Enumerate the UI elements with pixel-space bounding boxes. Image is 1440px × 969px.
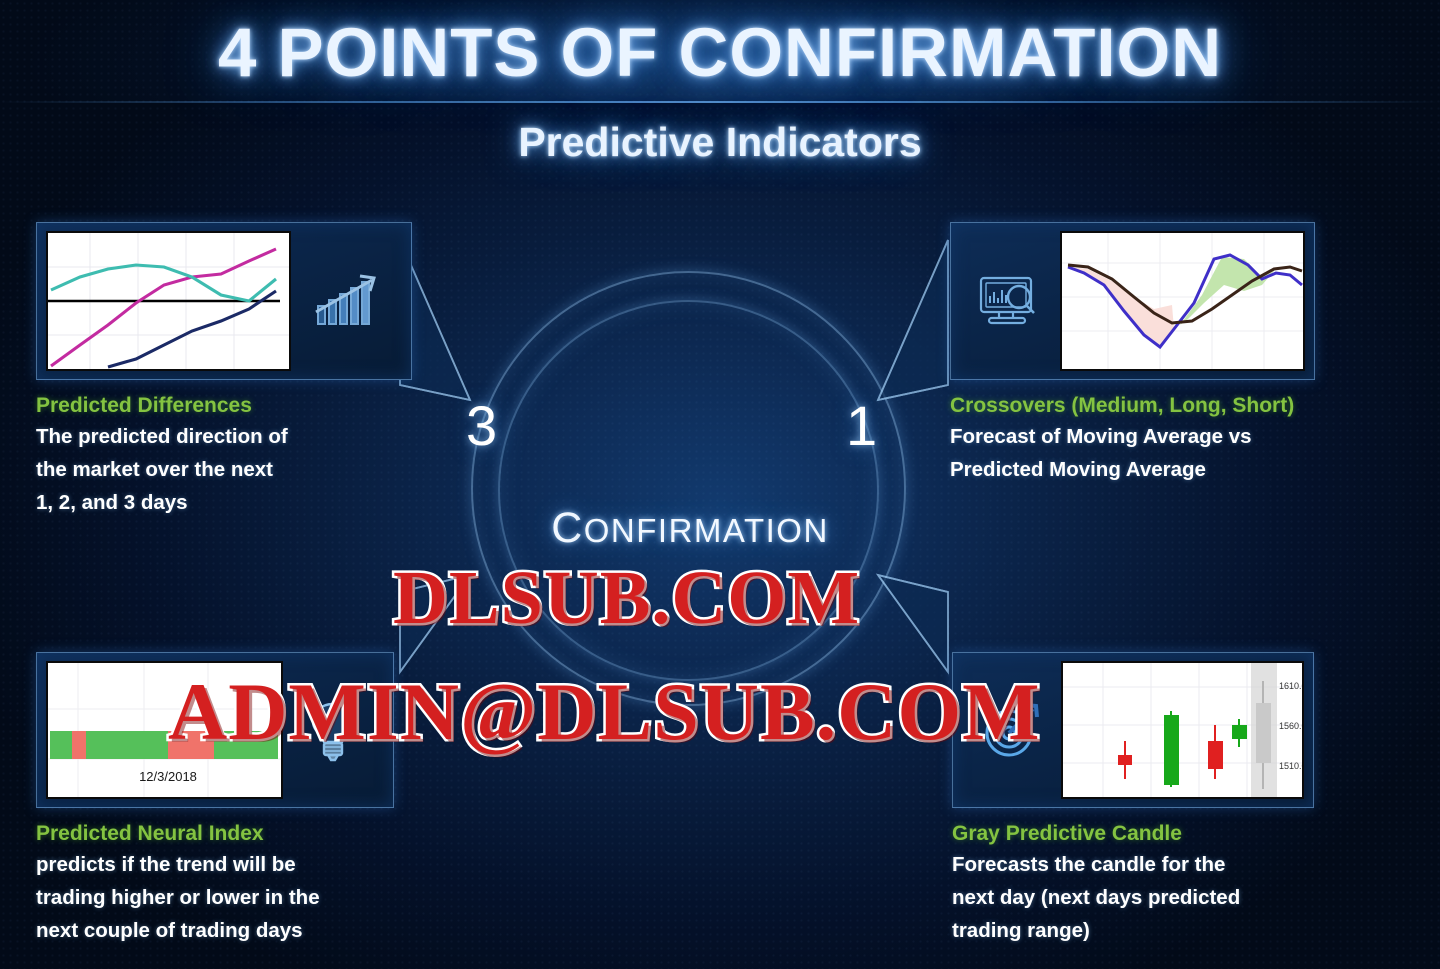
- neural-index-date-label: 12/3/2018: [139, 769, 197, 784]
- body-line-2: Predicted Moving Average: [950, 453, 1315, 486]
- candle-svg: 1610.00 1560.00 1510.00: [1063, 663, 1304, 797]
- crossovers-svg: [1062, 233, 1305, 369]
- panel-predicted-differences[interactable]: Predicted Differences The predicted dire…: [36, 222, 416, 520]
- predicted-differences-svg: [48, 233, 289, 369]
- panel-body-predicted-neural-index: predicts if the trend will be trading hi…: [36, 848, 396, 948]
- body-line-2: the market over the next: [36, 453, 416, 486]
- body-line-2: trading higher or lower in the: [36, 881, 396, 914]
- center-label-rest: ONFIRMATION: [584, 512, 829, 549]
- chart-gray-predictive-candle: 1610.00 1560.00 1510.00: [1061, 661, 1304, 799]
- center-confirmation-label: CONFIRMATION: [470, 504, 910, 553]
- panel-title-gray-predictive-candle: Gray Predictive Candle: [952, 822, 1314, 846]
- panel-title-predicted-neural-index: Predicted Neural Index: [36, 822, 396, 846]
- price-tick-3: 1510.00: [1279, 761, 1304, 771]
- body-line-2: next day (next days predicted: [952, 881, 1314, 914]
- card-predicted-differences: [36, 222, 412, 380]
- bar-chart-growth-icon: [291, 231, 401, 371]
- page-subtitle: Predictive Indicators: [0, 119, 1440, 166]
- watermark-email: ADMIN@DLSUB.COM: [168, 665, 1041, 759]
- monitor-analytics-icon: [960, 231, 1060, 371]
- panel-body-gray-predictive-candle: Forecasts the candle for the next day (n…: [952, 848, 1314, 948]
- body-line-1: Forecast of Moving Average vs: [950, 420, 1315, 453]
- panel-title-predicted-differences: Predicted Differences: [36, 394, 416, 418]
- body-line-1: predicts if the trend will be: [36, 848, 396, 881]
- chart-crossovers: [1060, 231, 1305, 371]
- watermark-site: DLSUB.COM: [393, 555, 860, 642]
- panel-crossovers[interactable]: Crossovers (Medium, Long, Short) Forecas…: [950, 222, 1315, 486]
- point-number-3: 3: [466, 393, 497, 458]
- candle-2: [1164, 711, 1179, 787]
- page-title: 4 POINTS OF CONFIRMATION: [0, 13, 1440, 92]
- chart-predicted-differences: [46, 231, 291, 371]
- body-line-3: trading range): [952, 914, 1314, 947]
- body-line-1: The predicted direction of: [36, 420, 416, 453]
- header-underline: [0, 101, 1440, 103]
- price-tick-2: 1560.00: [1279, 721, 1304, 731]
- panel-title-crossovers: Crossovers (Medium, Long, Short): [950, 394, 1315, 418]
- body-line-1: Forecasts the candle for the: [952, 848, 1314, 881]
- center-label-capital: C: [551, 504, 584, 552]
- panel-body-predicted-differences: The predicted direction of the market ov…: [36, 420, 416, 520]
- point-number-1: 1: [846, 393, 877, 458]
- body-line-3: 1, 2, and 3 days: [36, 486, 416, 519]
- body-line-3: next couple of trading days: [36, 914, 396, 947]
- price-tick-1: 1610.00: [1279, 681, 1304, 691]
- panel-body-crossovers: Forecast of Moving Average vs Predicted …: [950, 420, 1315, 486]
- card-crossovers: [950, 222, 1315, 380]
